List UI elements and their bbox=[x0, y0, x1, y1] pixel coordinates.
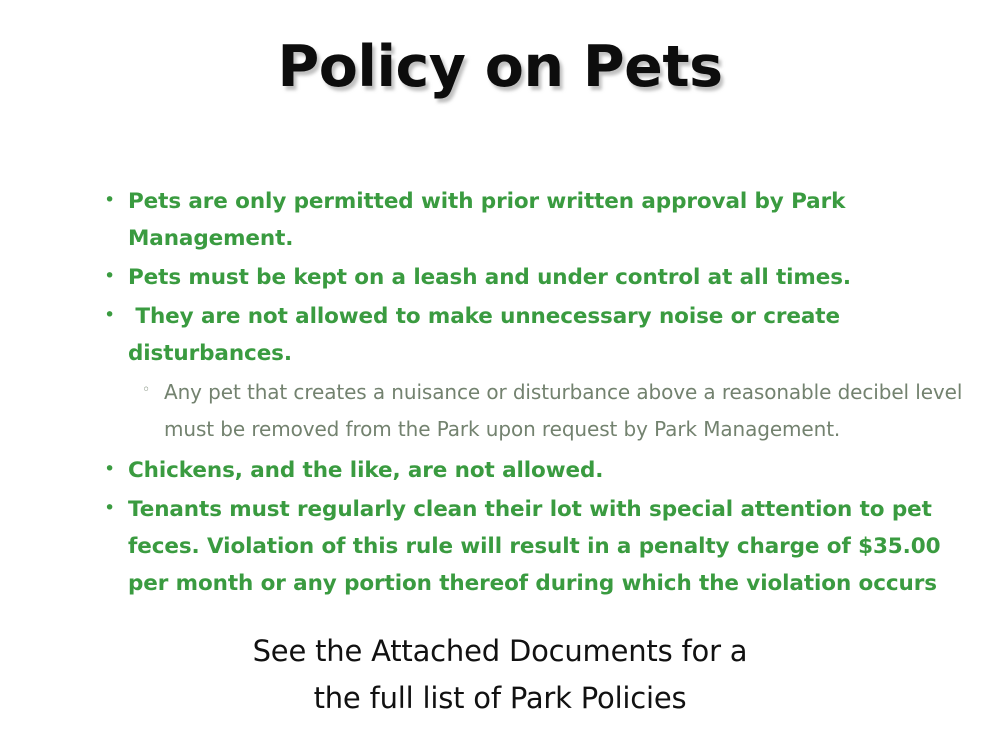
bullet-dot-icon: • bbox=[104, 183, 128, 210]
sub-list-item: ◦ Any pet that creates a nuisance or dis… bbox=[104, 374, 964, 448]
bullet-dot-icon: • bbox=[104, 452, 128, 479]
footer-line-1: See the Attached Documents for a bbox=[0, 628, 1000, 675]
list-item-text: Tenants must regularly clean their lot w… bbox=[128, 491, 964, 602]
list-item: • They are not allowed to make unnecessa… bbox=[104, 298, 964, 372]
policy-bullet-list: • Pets are only permitted with prior wri… bbox=[104, 183, 964, 604]
list-item-text: Pets are only permitted with prior writt… bbox=[128, 183, 964, 257]
slide-footer: See the Attached Documents for a the ful… bbox=[0, 628, 1000, 722]
sub-list-item-text: Any pet that creates a nuisance or distu… bbox=[164, 374, 964, 448]
list-item: • Chickens, and the like, are not allowe… bbox=[104, 452, 964, 489]
bullet-circle-icon: ◦ bbox=[142, 374, 164, 397]
list-item: • Pets must be kept on a leash and under… bbox=[104, 259, 964, 296]
bullet-dot-icon: • bbox=[104, 491, 128, 518]
footer-line-2: the full list of Park Policies bbox=[0, 675, 1000, 722]
list-item-text: They are not allowed to make unnecessary… bbox=[128, 298, 964, 372]
slide-canvas: Policy on Pets • Pets are only permitted… bbox=[0, 0, 1000, 750]
page-title: Policy on Pets bbox=[0, 36, 1000, 99]
list-item: • Tenants must regularly clean their lot… bbox=[104, 491, 964, 602]
list-item-text: Pets must be kept on a leash and under c… bbox=[128, 259, 964, 296]
list-item: • Pets are only permitted with prior wri… bbox=[104, 183, 964, 257]
list-item-text: Chickens, and the like, are not allowed. bbox=[128, 452, 964, 489]
bullet-dot-icon: • bbox=[104, 298, 128, 325]
bullet-dot-icon: • bbox=[104, 259, 128, 286]
